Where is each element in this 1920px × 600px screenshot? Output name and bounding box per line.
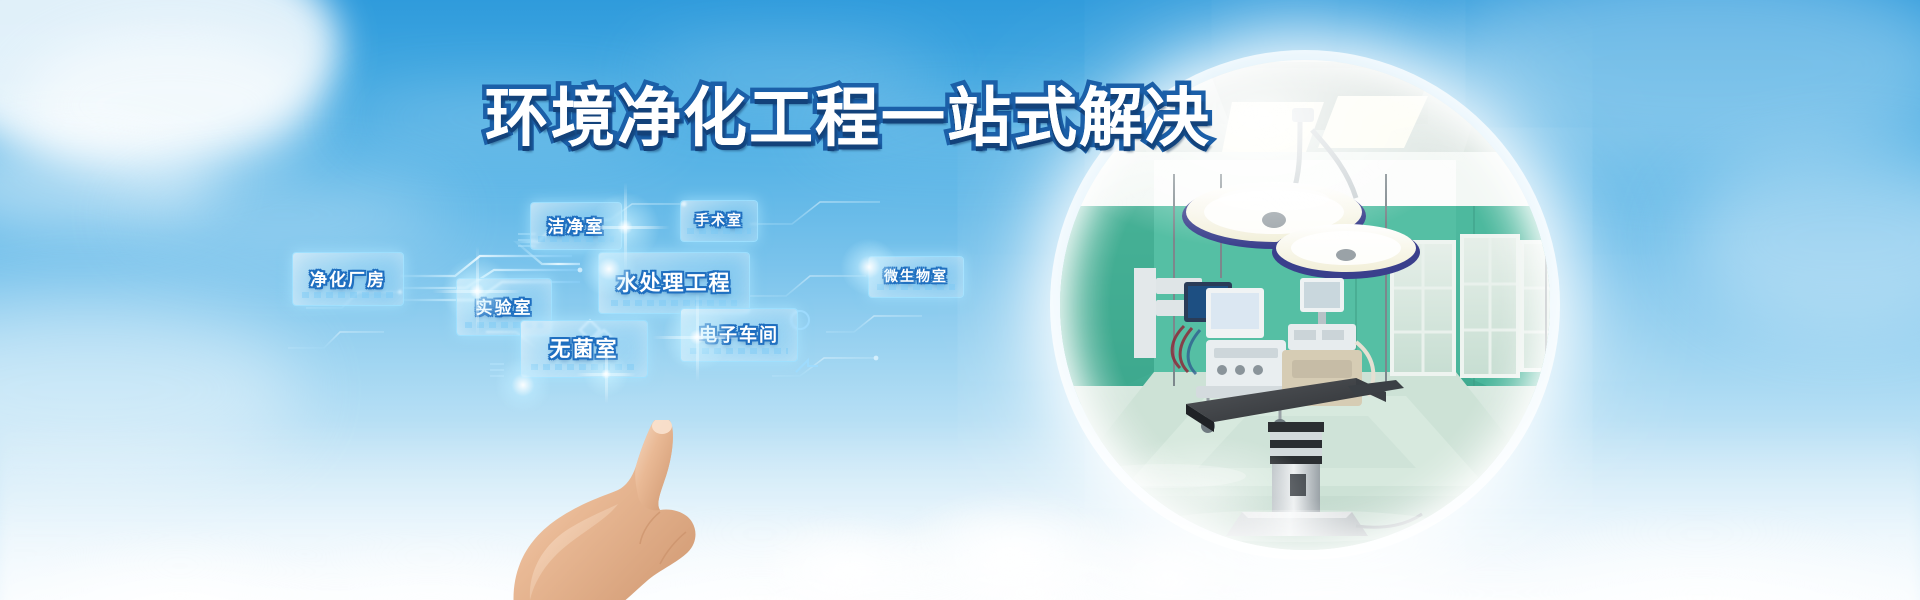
- node-operating-room[interactable]: 手术室: [680, 200, 758, 242]
- node-electronics-workshop-label: 电子车间: [681, 321, 797, 347]
- cloud-left-wisp: [0, 130, 220, 230]
- node-purification-plant-label: 净化厂房: [293, 266, 403, 291]
- page-title: 环境净化工程一站式解决: [485, 86, 1211, 150]
- cloud-top-left-inner: [20, 30, 320, 180]
- node-cleanroom-label: 洁净室: [531, 213, 621, 238]
- node-sterile-room[interactable]: 无菌室: [520, 320, 648, 378]
- pointing-hand: [500, 420, 800, 600]
- cloud-right: [1680, 150, 1920, 330]
- node-sterile-room-label: 无菌室: [521, 333, 647, 363]
- node-electronics-workshop[interactable]: 电子车间: [680, 308, 798, 362]
- node-water-treatment[interactable]: 水处理工程: [598, 252, 750, 314]
- node-microbiology-room[interactable]: 微生物室: [868, 256, 964, 298]
- node-cleanroom[interactable]: 洁净室: [530, 202, 622, 250]
- node-laboratory-label: 实验室: [457, 294, 551, 319]
- node-operating-room-label: 手术室: [681, 210, 757, 230]
- cloud-top-left: [0, 0, 340, 160]
- node-water-treatment-label: 水处理工程: [599, 267, 749, 297]
- node-microbiology-room-label: 微生物室: [869, 266, 963, 286]
- hero-banner: 环境净化工程一站式解决 环境净化工程一站式解决: [0, 0, 1920, 600]
- node-purification-plant[interactable]: 净化厂房: [292, 252, 404, 306]
